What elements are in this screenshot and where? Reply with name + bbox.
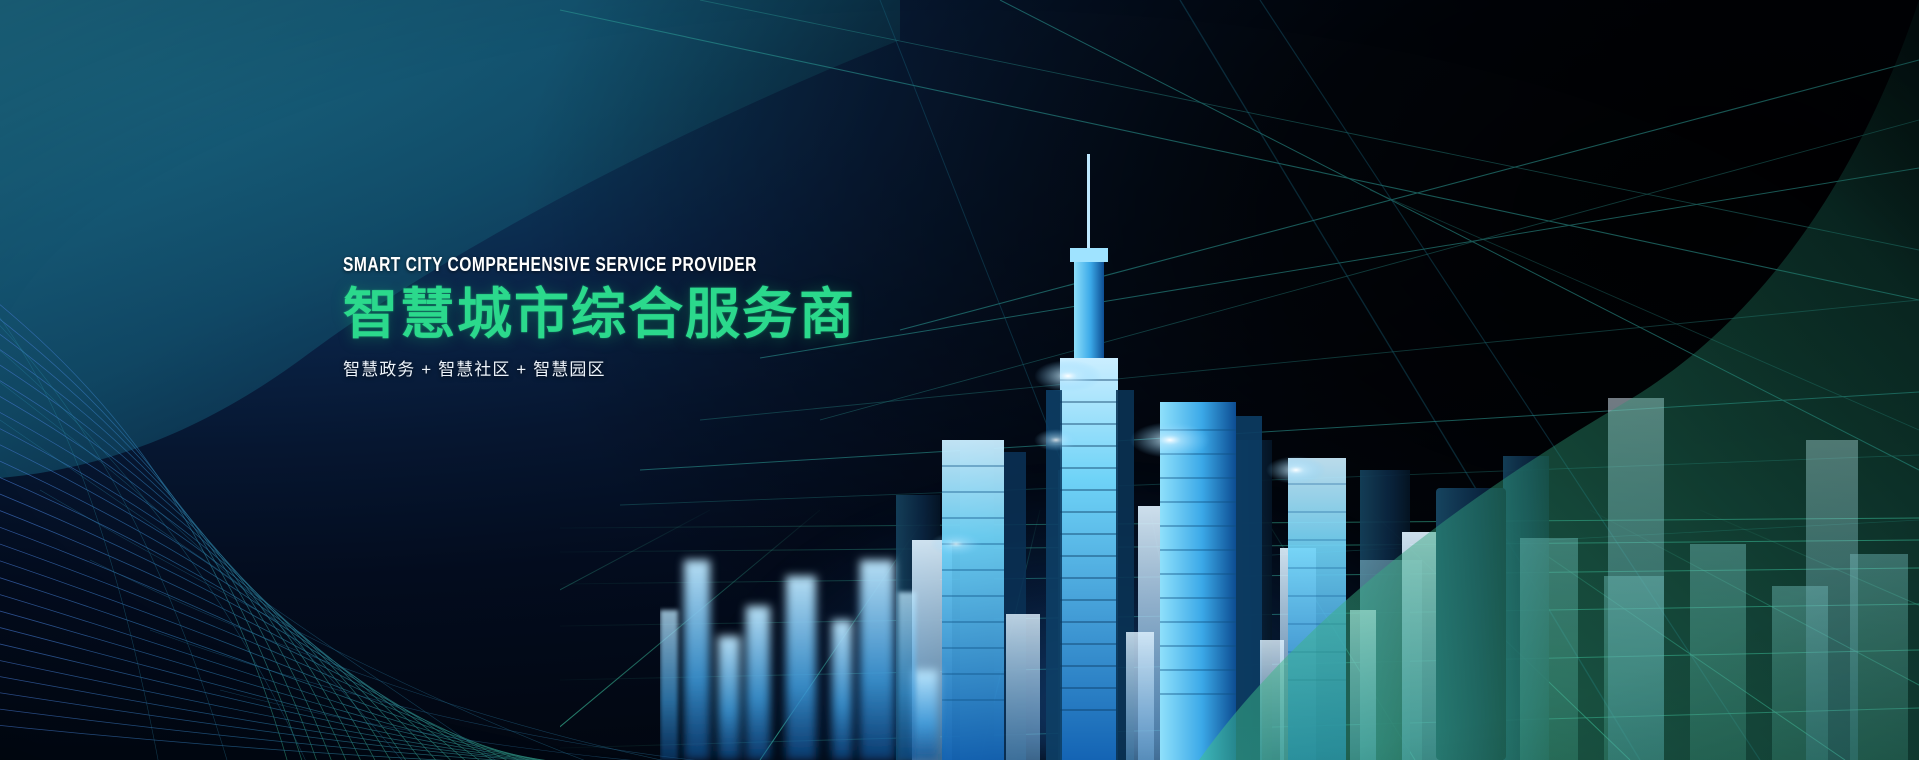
page-title: 智慧城市综合服务商 (343, 282, 1103, 347)
hero-banner: SMART CITY COMPREHENSIVE SERVICE PROVIDE… (0, 0, 1919, 760)
eyebrow-tagline: SMART CITY COMPREHENSIVE SERVICE PROVIDE… (343, 254, 936, 276)
hero-copy-block: SMART CITY COMPREHENSIVE SERVICE PROVIDE… (343, 254, 1103, 381)
subtitle-services: 智慧政务 + 智慧社区 + 智慧园区 (343, 359, 1103, 381)
